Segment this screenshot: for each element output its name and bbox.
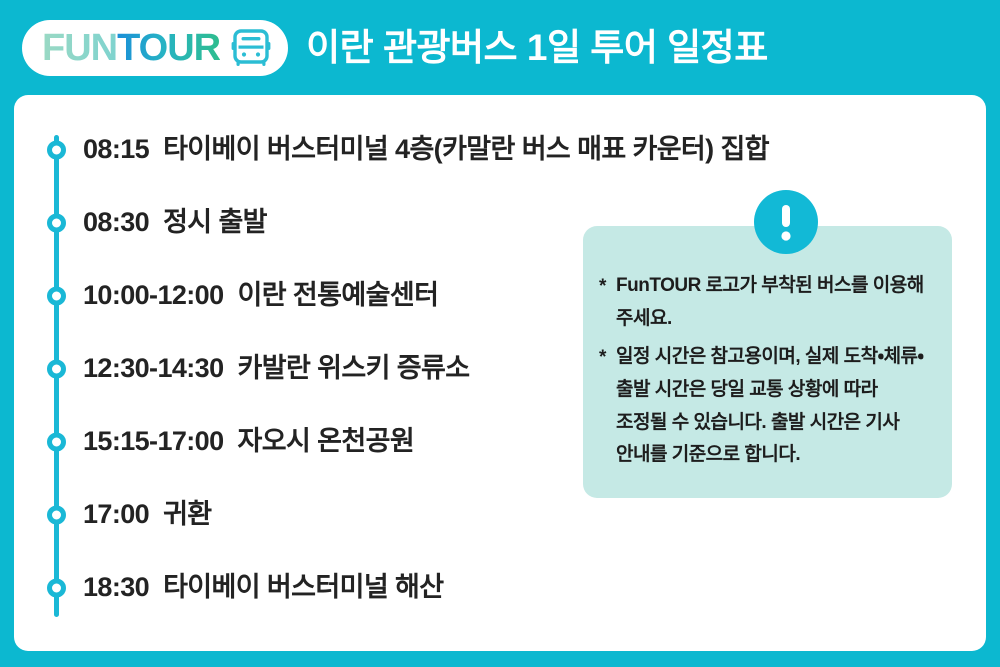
timeline-time: 18:30 bbox=[83, 572, 149, 602]
page-title: 이란 관광버스 1일 투어 일정표 bbox=[306, 29, 768, 66]
timeline-description: 타이베이 버스터미널 4층(카말란 버스 매표 카운터) 집합 bbox=[163, 134, 769, 164]
timeline-item: 17:00귀환 bbox=[38, 478, 598, 551]
timeline-item: 08:15타이베이 버스터미널 4층(카말란 버스 매표 카운터) 집합 bbox=[38, 113, 598, 186]
bus-icon bbox=[230, 28, 272, 68]
timeline-dot-icon bbox=[47, 140, 66, 159]
timeline-time: 08:15 bbox=[83, 134, 149, 164]
timeline-time: 17:00 bbox=[83, 499, 149, 529]
timeline-description: 자오시 온천공원 bbox=[238, 426, 415, 456]
timeline-description: 카발란 위스키 증류소 bbox=[238, 353, 470, 383]
timeline-dot-icon bbox=[47, 213, 66, 232]
notice-list: FunTOUR 로고가 부착된 버스를 이용해 주세요. 일정 시간은 참고용이… bbox=[599, 270, 932, 472]
header: FUNTOUR 이란 관광버스 1일 투어 일정표 bbox=[0, 0, 1000, 95]
timeline-item: 15:15-17:00자오시 온천공원 bbox=[38, 405, 598, 478]
timeline-description: 정시 출발 bbox=[163, 207, 267, 237]
notice-list-item: FunTOUR 로고가 부착된 버스를 이용해 주세요. bbox=[599, 270, 932, 335]
logo-tour-text: TOUR bbox=[117, 29, 220, 67]
schedule-timeline: 08:15타이베이 버스터미널 4층(카말란 버스 매표 카운터) 집합 08:… bbox=[38, 113, 598, 624]
timeline-time: 15:15-17:00 bbox=[83, 426, 224, 456]
timeline-dot-icon bbox=[47, 578, 66, 597]
timeline-time: 08:30 bbox=[83, 207, 149, 237]
timeline-item: 12:30-14:30카발란 위스키 증류소 bbox=[38, 332, 598, 405]
timeline-entry-text: 15:15-17:00자오시 온천공원 bbox=[83, 427, 414, 457]
tour-schedule-page: FUNTOUR 이란 관광버스 1일 투어 일정표 bbox=[0, 0, 1000, 667]
content-card: 08:15타이베이 버스터미널 4층(카말란 버스 매표 카운터) 집합 08:… bbox=[14, 95, 986, 651]
timeline-entry-text: 08:30정시 출발 bbox=[83, 208, 267, 238]
timeline-description: 타이베이 버스터미널 해산 bbox=[163, 572, 443, 602]
logo-wordmark: FUNTOUR bbox=[42, 29, 220, 67]
timeline-dot-icon bbox=[47, 286, 66, 305]
notice-list-item: 일정 시간은 참고용이며, 실제 도착・체류・출발 시간은 당일 교통 상황에 … bbox=[599, 341, 932, 472]
timeline-entry-text: 12:30-14:30카발란 위스키 증류소 bbox=[83, 354, 469, 384]
timeline-dot-icon bbox=[47, 505, 66, 524]
timeline-entry-text: 10:00-12:00이란 전통예술센터 bbox=[83, 281, 438, 311]
timeline-entry-text: 08:15타이베이 버스터미널 4층(카말란 버스 매표 카운터) 집합 bbox=[83, 135, 769, 165]
timeline-entry-text: 17:00귀환 bbox=[83, 500, 212, 530]
timeline-item: 18:30타이베이 버스터미널 해산 bbox=[38, 551, 598, 624]
timeline-time: 10:00-12:00 bbox=[83, 280, 224, 310]
timeline-dot-icon bbox=[47, 432, 66, 451]
timeline-entry-text: 18:30타이베이 버스터미널 해산 bbox=[83, 573, 444, 603]
timeline-dot-icon bbox=[47, 359, 66, 378]
timeline-description: 귀환 bbox=[163, 499, 211, 529]
exclamation-icon bbox=[754, 190, 818, 254]
timeline-description: 이란 전통예술센터 bbox=[238, 280, 439, 310]
timeline-item: 10:00-12:00이란 전통예술센터 bbox=[38, 259, 598, 332]
logo-fun-text: FUN bbox=[42, 29, 117, 67]
timeline-time: 12:30-14:30 bbox=[83, 353, 224, 383]
timeline-item: 08:30정시 출발 bbox=[38, 186, 598, 259]
notice-box: FunTOUR 로고가 부착된 버스를 이용해 주세요. 일정 시간은 참고용이… bbox=[583, 226, 952, 498]
brand-logo: FUNTOUR bbox=[22, 20, 288, 76]
